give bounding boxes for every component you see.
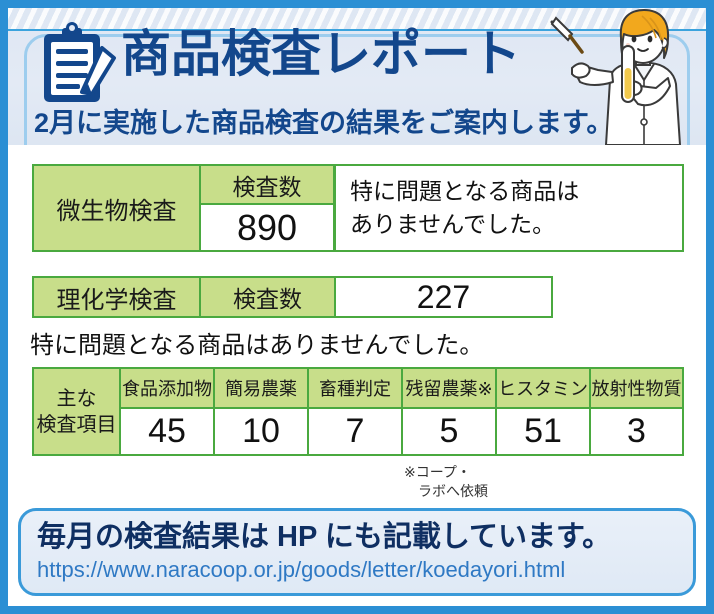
footer-callout-box: 毎月の検査結果は HP にも記載しています。 https://www.narac… (18, 508, 696, 596)
inner-panel: 商品検査レポート 2月に実施した商品検査の結果をご案内します。 (8, 8, 706, 606)
clipboard-icon (36, 22, 122, 108)
page-subtitle: 2月に実施した商品検査の結果をご案内します。 (34, 109, 613, 139)
microbiological-note-line2: ありませんでした。 (350, 208, 682, 241)
footer-url-link[interactable]: https://www.naracoop.or.jp/goods/letter/… (37, 557, 693, 583)
inspection-items-table: 主な 検査項目 食品添加物 45 簡易農薬 10 畜種判定 7 残留農薬※ (32, 367, 684, 456)
physicochemical-note: 特に問題となる商品はありませんでした。 (30, 325, 483, 360)
poster-root: 商品検査レポート 2月に実施した商品検査の結果をご案内します。 (0, 0, 714, 614)
item-value-radioactive-substance: 3 (590, 408, 684, 456)
item-column-food-additives: 食品添加物 45 (120, 367, 214, 456)
item-value-species-identification: 7 (308, 408, 402, 456)
item-header-food-additives: 食品添加物 (120, 367, 214, 408)
lab-technician-illustration (550, 8, 706, 145)
item-column-simple-pesticide: 簡易農薬 10 (214, 367, 308, 456)
item-value-simple-pesticide: 10 (214, 408, 308, 456)
item-value-food-additives: 45 (120, 408, 214, 456)
physicochemical-label: 理化学検査 (32, 276, 200, 318)
items-row-label-line1: 主な (57, 386, 97, 412)
item-column-histamine: ヒスタミン 51 (496, 367, 590, 456)
item-header-species-identification: 畜種判定 (308, 367, 402, 408)
table-footnote-line2: ラボへ依頼 (404, 482, 488, 501)
footer-heading: 毎月の検査結果は HP にも記載しています。 (37, 521, 693, 554)
item-value-residual-pesticide: 5 (402, 408, 496, 456)
items-row-label-line2: 検査項目 (37, 412, 117, 438)
microbiological-note: 特に問題となる商品は ありませんでした。 (335, 164, 684, 252)
item-header-histamine: ヒスタミン (496, 367, 590, 408)
item-value-histamine: 51 (496, 408, 590, 456)
microbiological-count-header: 検査数 (200, 164, 335, 204)
microbiological-count-value: 890 (200, 204, 335, 252)
body-area: 微生物検査 検査数 890 特に問題となる商品は ありませんでした。 理化学検査… (8, 145, 706, 606)
microbiological-note-line1: 特に問題となる商品は (350, 175, 682, 208)
items-row-label: 主な 検査項目 (32, 367, 120, 456)
item-column-radioactive-substance: 放射性物質 3 (590, 367, 684, 456)
microbiological-count-column: 検査数 890 (200, 164, 335, 252)
microbiological-section: 微生物検査 検査数 890 特に問題となる商品は ありませんでした。 (32, 164, 684, 252)
item-column-residual-pesticide: 残留農薬※ 5 (402, 367, 496, 456)
microbiological-label: 微生物検査 (32, 164, 200, 252)
physicochemical-count-value: 227 (335, 276, 553, 318)
physicochemical-count-header: 検査数 (200, 276, 335, 318)
item-column-species-identification: 畜種判定 7 (308, 367, 402, 456)
table-footnote: ※コープ・ ラボへ依頼 (404, 463, 488, 501)
item-header-residual-pesticide: 残留農薬※ (402, 367, 496, 408)
physicochemical-section: 理化学検査 検査数 227 (32, 276, 553, 318)
page-title: 商品検査レポート (121, 29, 521, 79)
header-band: 商品検査レポート 2月に実施した商品検査の結果をご案内します。 (8, 8, 706, 145)
table-footnote-line1: ※コープ・ (404, 464, 471, 480)
item-header-simple-pesticide: 簡易農薬 (214, 367, 308, 408)
item-header-radioactive-substance: 放射性物質 (590, 367, 684, 408)
